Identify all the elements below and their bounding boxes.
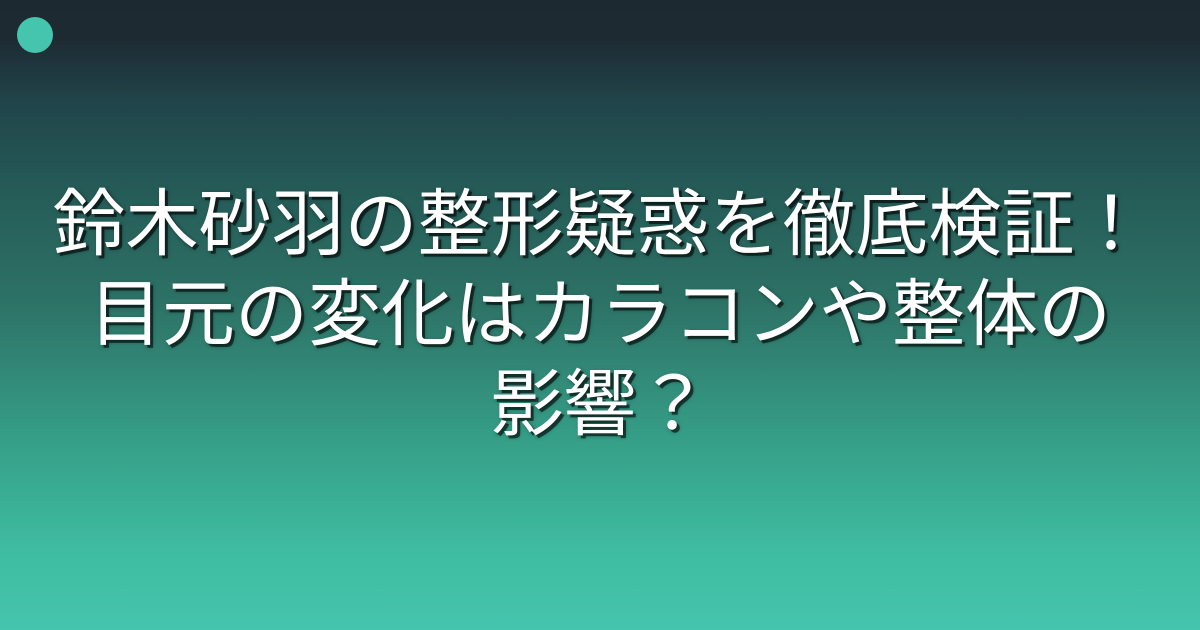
page-title: 鈴木砂羽の整形疑惑を徹底検証！ 目元の変化はカラコンや整体の 影響？ [0, 0, 1200, 630]
title-line-2: 目元の変化はカラコンや整体の [40, 270, 1160, 360]
title-line-3: 影響？ [40, 360, 1160, 450]
title-line-1: 鈴木砂羽の整形疑惑を徹底検証！ [40, 180, 1160, 270]
social-card: 鈴木砂羽の整形疑惑を徹底検証！ 目元の変化はカラコンや整体の 影響？ [0, 0, 1200, 630]
